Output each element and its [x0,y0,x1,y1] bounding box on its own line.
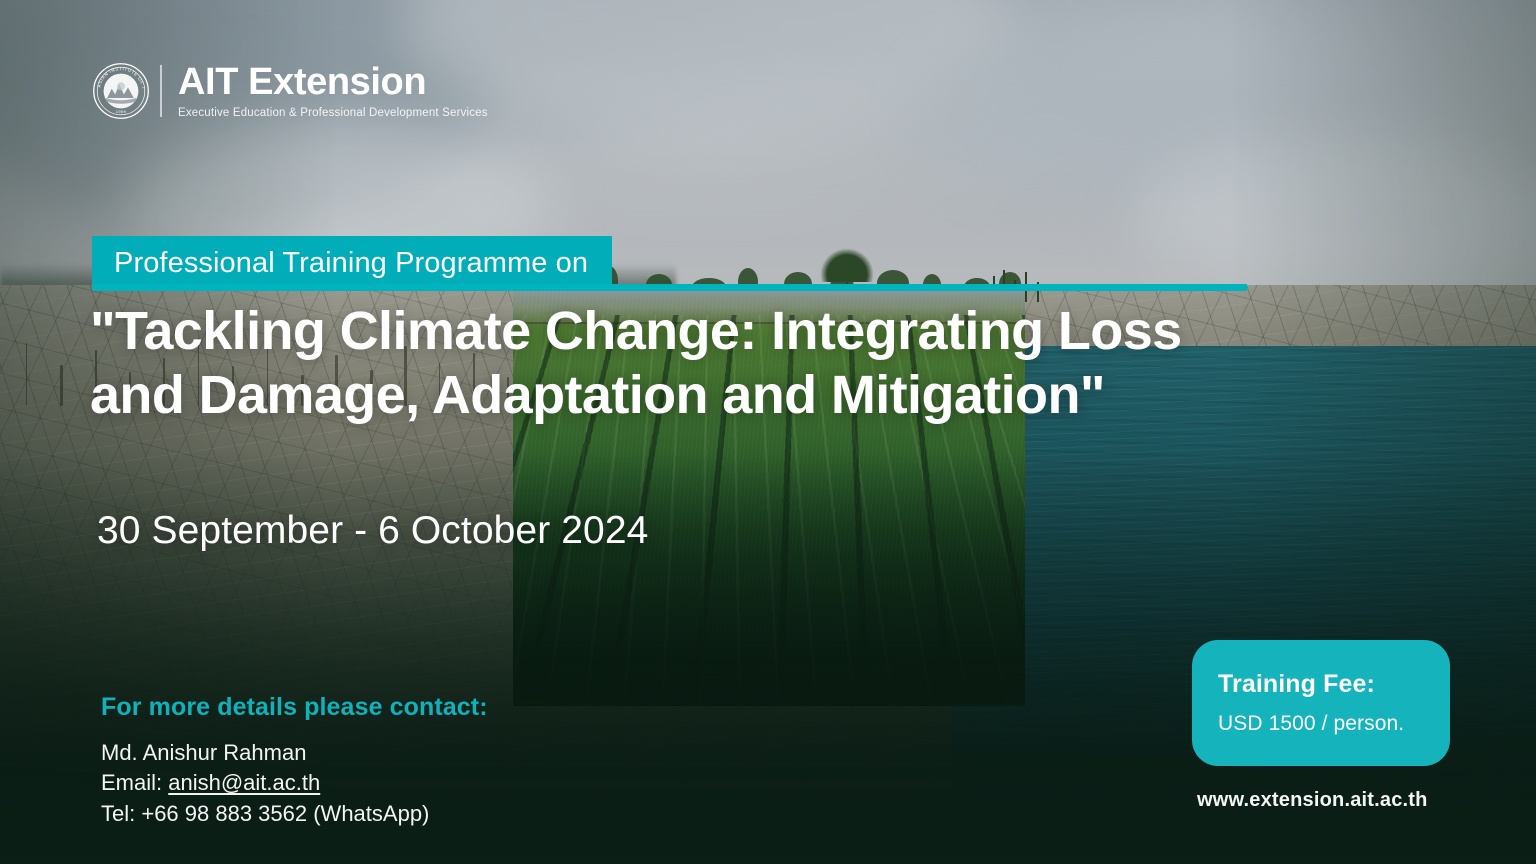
ait-extension-logo: ASIAN INSTITUTE OF TECHNOLOGY 1959 AIT E… [92,62,488,120]
content-layer: ASIAN INSTITUTE OF TECHNOLOGY 1959 AIT E… [0,0,1536,864]
contact-email-line: Email: anish@ait.ac.th [101,768,488,798]
ait-seal-icon: ASIAN INSTITUTE OF TECHNOLOGY 1959 [92,62,150,120]
eyebrow-label: Professional Training Programme on [114,247,588,280]
programme-eyebrow-badge: Professional Training Programme on [92,236,612,291]
programme-dates: 30 September - 6 October 2024 [97,509,648,553]
website-url[interactable]: www.extension.ait.ac.th [1197,789,1428,812]
contact-person: Md. Anishur Rahman [101,738,488,768]
fee-title: Training Fee: [1218,670,1450,699]
email-label: Email: [101,770,162,795]
teal-divider-rule [92,284,1247,291]
email-link[interactable]: anish@ait.ac.th [168,770,320,795]
contact-telephone: Tel: +66 98 883 3562 (WhatsApp) [101,799,488,829]
logo-text-block: AIT Extension Executive Education & Prof… [178,63,488,119]
contact-block: For more details please contact: Md. Ani… [101,693,488,829]
promotional-banner: ASIAN INSTITUTE OF TECHNOLOGY 1959 AIT E… [0,0,1536,864]
logo-divider [160,65,162,117]
training-fee-card: Training Fee: USD 1500 / person. [1192,640,1450,766]
page-title: "Tackling Climate Change: Integrating Lo… [90,300,1270,427]
fee-amount: USD 1500 / person. [1218,712,1450,736]
svg-text:1959: 1959 [116,109,127,114]
brand-tagline: Executive Education & Professional Devel… [178,107,488,119]
contact-heading: For more details please contact: [101,693,488,722]
brand-name: AIT Extension [178,63,488,102]
